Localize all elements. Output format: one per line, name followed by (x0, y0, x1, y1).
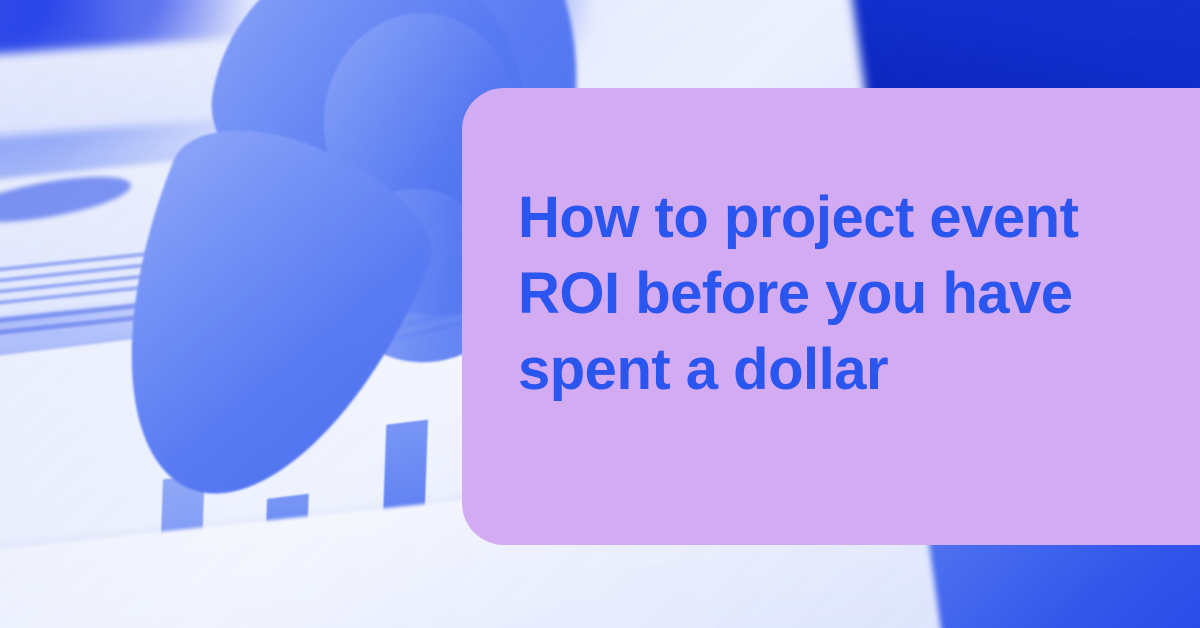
page-title: How to project event ROI before you have… (518, 180, 1160, 408)
headline-card: How to project event ROI before you have… (462, 88, 1200, 545)
banner-root: How to project event ROI before you have… (0, 0, 1200, 628)
